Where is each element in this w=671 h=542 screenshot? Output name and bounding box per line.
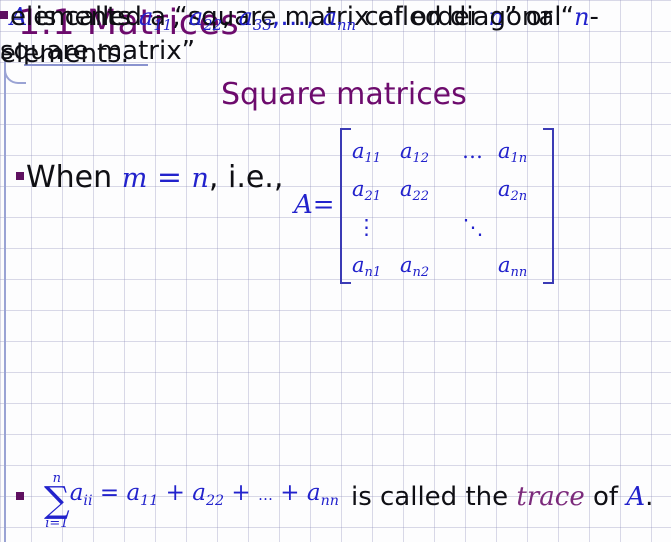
diagonal-entry-a11: a11 — [139, 3, 172, 31]
sum-plus-2: + — [224, 480, 258, 506]
matrix-cell-base: a — [400, 177, 413, 201]
matrix-cell: ⋱ — [448, 208, 498, 246]
bullet-square-icon — [16, 492, 24, 500]
matrix-cell: … — [448, 132, 498, 170]
comma-1: , — [172, 2, 189, 32]
matrix-left-bracket — [340, 128, 351, 284]
matrix-cell-base: a — [352, 139, 365, 163]
matrix-cell: a12 — [400, 132, 448, 170]
diagonal-entry-a22: a22 — [189, 3, 222, 31]
sum-ellipsis: … — [258, 486, 273, 504]
sum-equals: = — [93, 480, 127, 506]
comma-2: , — [222, 2, 239, 32]
equals-sign-when: = — [147, 160, 191, 195]
matrix-variable-A: A — [294, 190, 313, 220]
bullet-square-icon — [0, 11, 8, 19]
diagonal-ellipsis-icon: ⋱ — [463, 215, 484, 239]
matrix-cell-empty — [400, 208, 448, 246]
matrix-equals-sign: = — [313, 190, 335, 220]
matrix-cell: an1 — [352, 246, 400, 284]
matrix-row: an1 an2 ann — [352, 246, 550, 284]
left-margin-rule — [4, 58, 6, 542]
variable-A-trace: A — [626, 482, 645, 512]
horizontal-ellipsis-icon: … — [462, 139, 484, 163]
matrix-row: a21 a22 a2n — [352, 170, 550, 208]
bullet-diagonal-paragraph: elements a11, a22, a33,…, ann called dia… — [0, 0, 671, 71]
diagonal-entry-a33: a33 — [239, 3, 272, 31]
matrix-cell: an2 — [400, 246, 448, 284]
matrix-cell: ann — [498, 246, 550, 284]
matrix-cell-empty — [448, 246, 498, 284]
matrix-cell-base: a — [352, 253, 365, 277]
bullet-diagonal-text-1: elements — [10, 2, 139, 32]
bullet-when-line: When m = n, i.e., — [16, 160, 283, 197]
trace-period: . — [645, 482, 653, 512]
matrix-cell-sub: 1n — [511, 151, 528, 166]
matrix-cell: a21 — [352, 170, 400, 208]
slide-canvas: 1.1 Matrices Square matrices When m = n,… — [0, 0, 671, 542]
matrix-cell-sub: nn — [511, 265, 528, 280]
matrix-cell-sub: 21 — [365, 189, 382, 204]
matrix-cell-sub: 12 — [413, 151, 430, 166]
matrix-cell-base: a — [498, 139, 511, 163]
sigma-operator: n∑i=1 — [44, 473, 70, 530]
matrix-cell-sub: 11 — [365, 151, 382, 166]
sum-term-ann: ann — [307, 480, 339, 506]
vertical-ellipsis-icon: ⋮ — [356, 215, 377, 239]
sigma-glyph-icon: ∑ — [44, 485, 70, 517]
variable-n: n — [192, 163, 209, 194]
diagonal-entry-ann: ann — [323, 3, 356, 31]
matrix-equation-lhs: A= — [294, 190, 335, 220]
matrix-cell: a2n — [498, 170, 550, 208]
matrix-cell: a11 — [352, 132, 400, 170]
word-trace: trace — [516, 482, 584, 512]
matrix-cell-base: a — [400, 253, 413, 277]
sum-plus-3: + — [273, 480, 307, 506]
trace-tail-text-2: of — [585, 482, 627, 512]
summand-a-ii: aii — [70, 480, 93, 506]
matrix-cell-base: a — [498, 253, 511, 277]
diagonal-ellipsis: ,…, — [272, 2, 323, 32]
matrix-cell-sub: n1 — [365, 265, 382, 280]
trace-tail-text-1: is called the — [351, 482, 516, 512]
bullet-trace-line: n∑i=1aii = a11 + a22 + … + annis called … — [16, 470, 653, 527]
matrix-cell: a1n — [498, 132, 550, 170]
matrix-cell-base: a — [352, 177, 365, 201]
sum-lower-limit: i=1 — [44, 517, 70, 530]
matrix-cell-sub: n2 — [413, 265, 430, 280]
matrix-cell-base: a — [498, 177, 511, 201]
matrix-cell-empty — [448, 170, 498, 208]
matrix-row: a11 a12 … a1n — [352, 132, 550, 170]
matrix-cell-sub: 22 — [413, 189, 430, 204]
section-subtitle: Square matrices — [221, 76, 467, 114]
matrix-row: ⋮ ⋱ — [352, 208, 550, 246]
matrix-cell-base: a — [400, 139, 413, 163]
matrix-cell: ⋮ — [352, 208, 400, 246]
summation-body: aii = a11 + a22 + … + ann — [70, 476, 339, 513]
matrix-grid: a11 a12 … a1n a21 a22 a2n ⋮ ⋱ an1 an2 — [352, 132, 550, 284]
bullet-when-text-1: When — [26, 160, 122, 195]
trace-summation-expression: n∑i=1aii = a11 + a22 + … + ann — [44, 471, 339, 528]
matrix-cell: a22 — [400, 170, 448, 208]
bullet-square-icon — [16, 172, 24, 180]
variable-m: m — [122, 163, 148, 194]
sum-term-a11: a11 — [126, 480, 158, 506]
bullet-when-text-2: , i.e., — [209, 160, 283, 195]
sum-term-a22: a22 — [192, 480, 224, 506]
matrix-cell-empty — [498, 208, 550, 246]
sum-plus-1: + — [158, 480, 192, 506]
matrix-cell-sub: 2n — [511, 189, 528, 204]
matrix-display: a11 a12 … a1n a21 a22 a2n ⋮ ⋱ an1 an2 — [338, 128, 556, 284]
